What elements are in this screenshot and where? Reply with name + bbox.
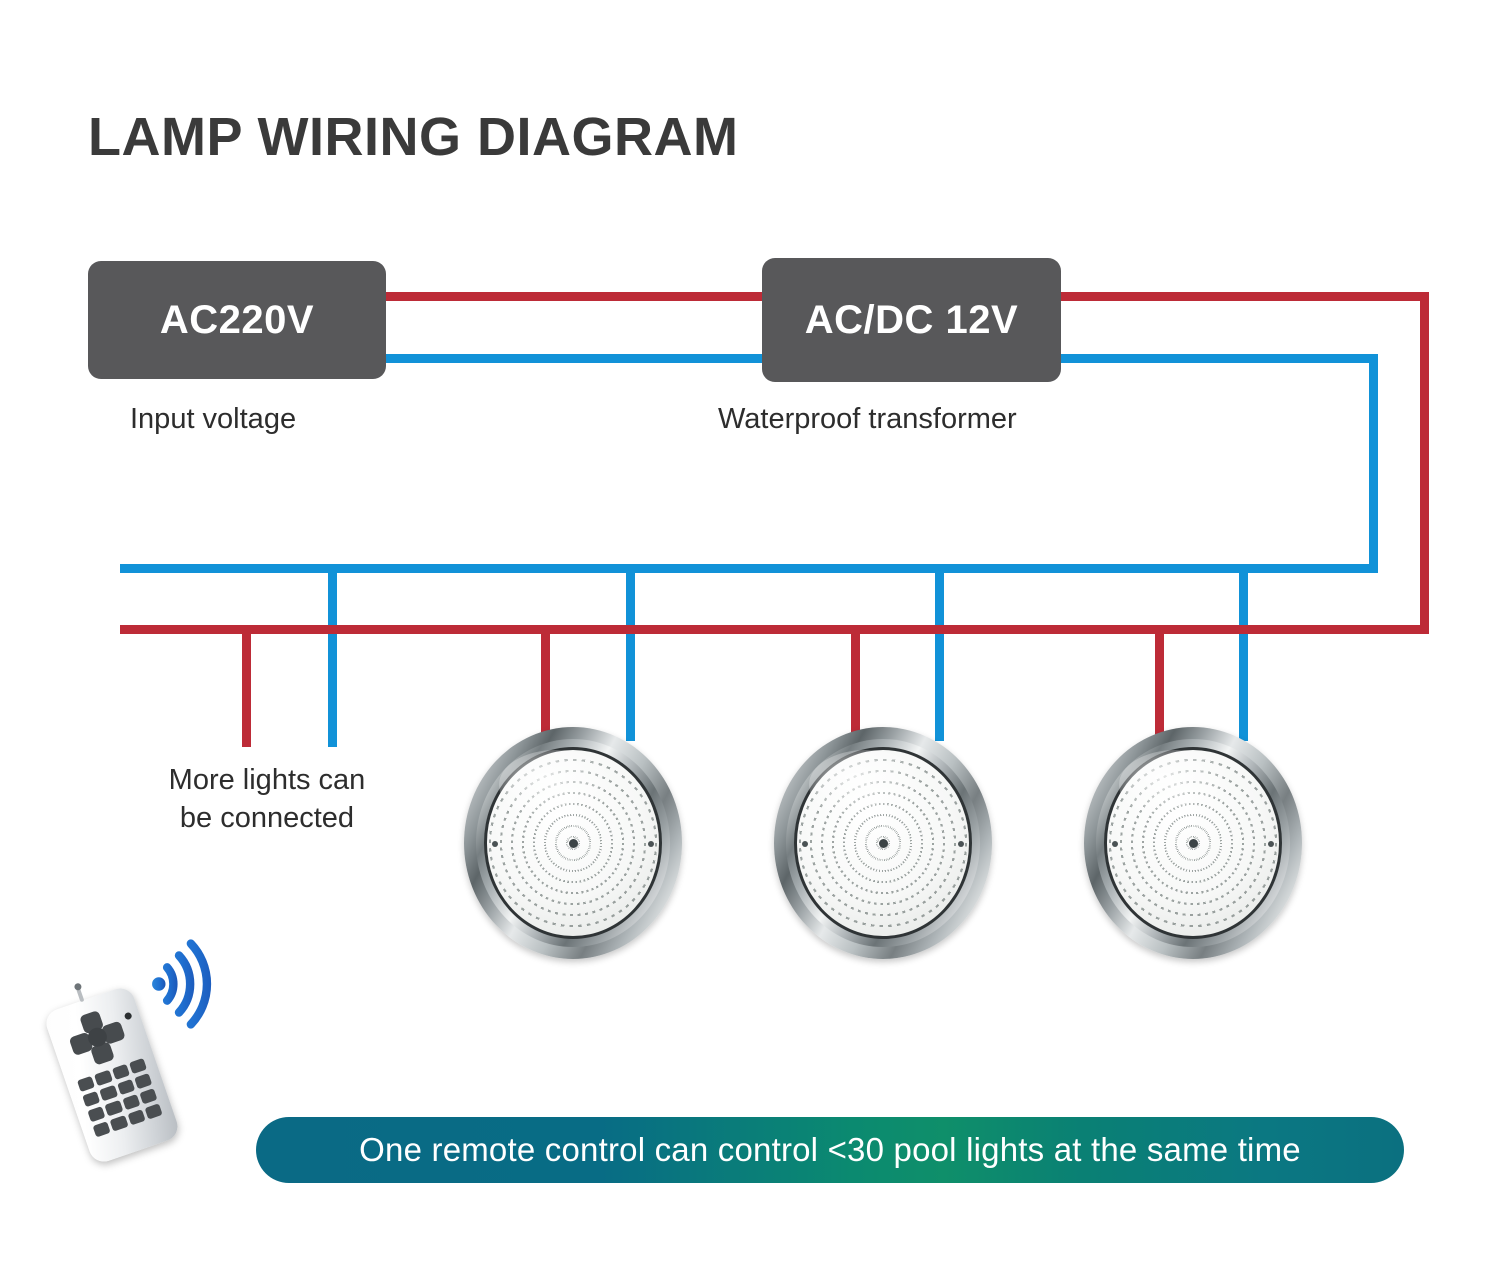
remote-key[interactable]	[139, 1088, 157, 1104]
remote-key[interactable]	[94, 1070, 112, 1086]
lamp-center-screw	[569, 839, 578, 848]
source-box-label: AC220V	[160, 298, 314, 343]
wire-blue-source-to-transformer	[386, 354, 764, 363]
remote-key[interactable]	[129, 1058, 147, 1074]
drop-red-lamp-1	[541, 625, 550, 737]
wire-blue-transformer-out-top	[1058, 354, 1378, 363]
remote-key[interactable]	[87, 1106, 105, 1122]
drop-blue-lamp-1	[626, 564, 635, 741]
lamp-face	[1107, 750, 1279, 936]
info-banner: One remote control can control <30 pool …	[256, 1117, 1404, 1183]
drop-blue-lamp-3	[1239, 564, 1248, 741]
pool-light-3[interactable]	[1084, 727, 1302, 959]
page-title: LAMP WIRING DIAGRAM	[88, 106, 738, 168]
remote-key[interactable]	[127, 1109, 145, 1125]
note-more-lights: More lights can be connected	[135, 761, 399, 838]
remote-control-group	[44, 940, 274, 1160]
remote-key[interactable]	[122, 1094, 140, 1110]
wire-blue-right-riser	[1369, 354, 1378, 573]
remote-key[interactable]	[99, 1085, 117, 1101]
info-banner-text: One remote control can control <30 pool …	[359, 1131, 1301, 1169]
transformer-box-acdc-12v[interactable]: AC/DC 12V	[762, 258, 1061, 382]
remote-key[interactable]	[110, 1115, 128, 1131]
lamp-center-screw	[879, 839, 888, 848]
bus-red-live	[120, 625, 1429, 634]
lamp-face	[797, 750, 969, 936]
remote-key[interactable]	[82, 1091, 100, 1107]
remote-control[interactable]	[42, 984, 181, 1165]
pool-light-1[interactable]	[464, 727, 682, 959]
remote-key[interactable]	[117, 1079, 135, 1095]
stub-red-spare	[242, 625, 251, 747]
drop-red-lamp-2	[851, 625, 860, 737]
note-more-lights-line-1: More lights can	[135, 761, 399, 799]
bus-blue-neutral	[120, 564, 1378, 573]
wiring-diagram-canvas: LAMP WIRING DIAGRAM AC220V AC/DC 12V Inp…	[0, 0, 1500, 1274]
source-box-ac220v[interactable]: AC220V	[88, 261, 386, 379]
remote-dpad[interactable]	[63, 1004, 131, 1071]
remote-key[interactable]	[105, 1100, 123, 1116]
remote-key[interactable]	[77, 1076, 95, 1092]
wire-red-source-to-transformer	[386, 292, 764, 301]
wire-red-transformer-out-top	[1058, 292, 1429, 301]
remote-keypad[interactable]	[77, 1058, 163, 1138]
remote-antenna	[76, 988, 84, 1003]
remote-key[interactable]	[93, 1121, 111, 1137]
remote-key[interactable]	[111, 1064, 129, 1080]
stub-blue-spare	[328, 564, 337, 747]
pool-light-2[interactable]	[774, 727, 992, 959]
drop-blue-lamp-2	[935, 564, 944, 741]
wire-red-right-riser	[1420, 292, 1429, 633]
caption-waterproof-transformer: Waterproof transformer	[718, 403, 1017, 436]
remote-ir-led	[124, 1012, 133, 1021]
transformer-box-label: AC/DC 12V	[805, 298, 1018, 343]
lamp-center-screw	[1189, 839, 1198, 848]
drop-red-lamp-3	[1155, 625, 1164, 737]
note-more-lights-line-2: be connected	[135, 799, 399, 837]
caption-input-voltage: Input voltage	[130, 403, 296, 436]
remote-key[interactable]	[134, 1073, 152, 1089]
remote-key[interactable]	[144, 1103, 162, 1119]
wifi-signal-icon	[139, 925, 258, 1044]
lamp-face	[487, 750, 659, 936]
